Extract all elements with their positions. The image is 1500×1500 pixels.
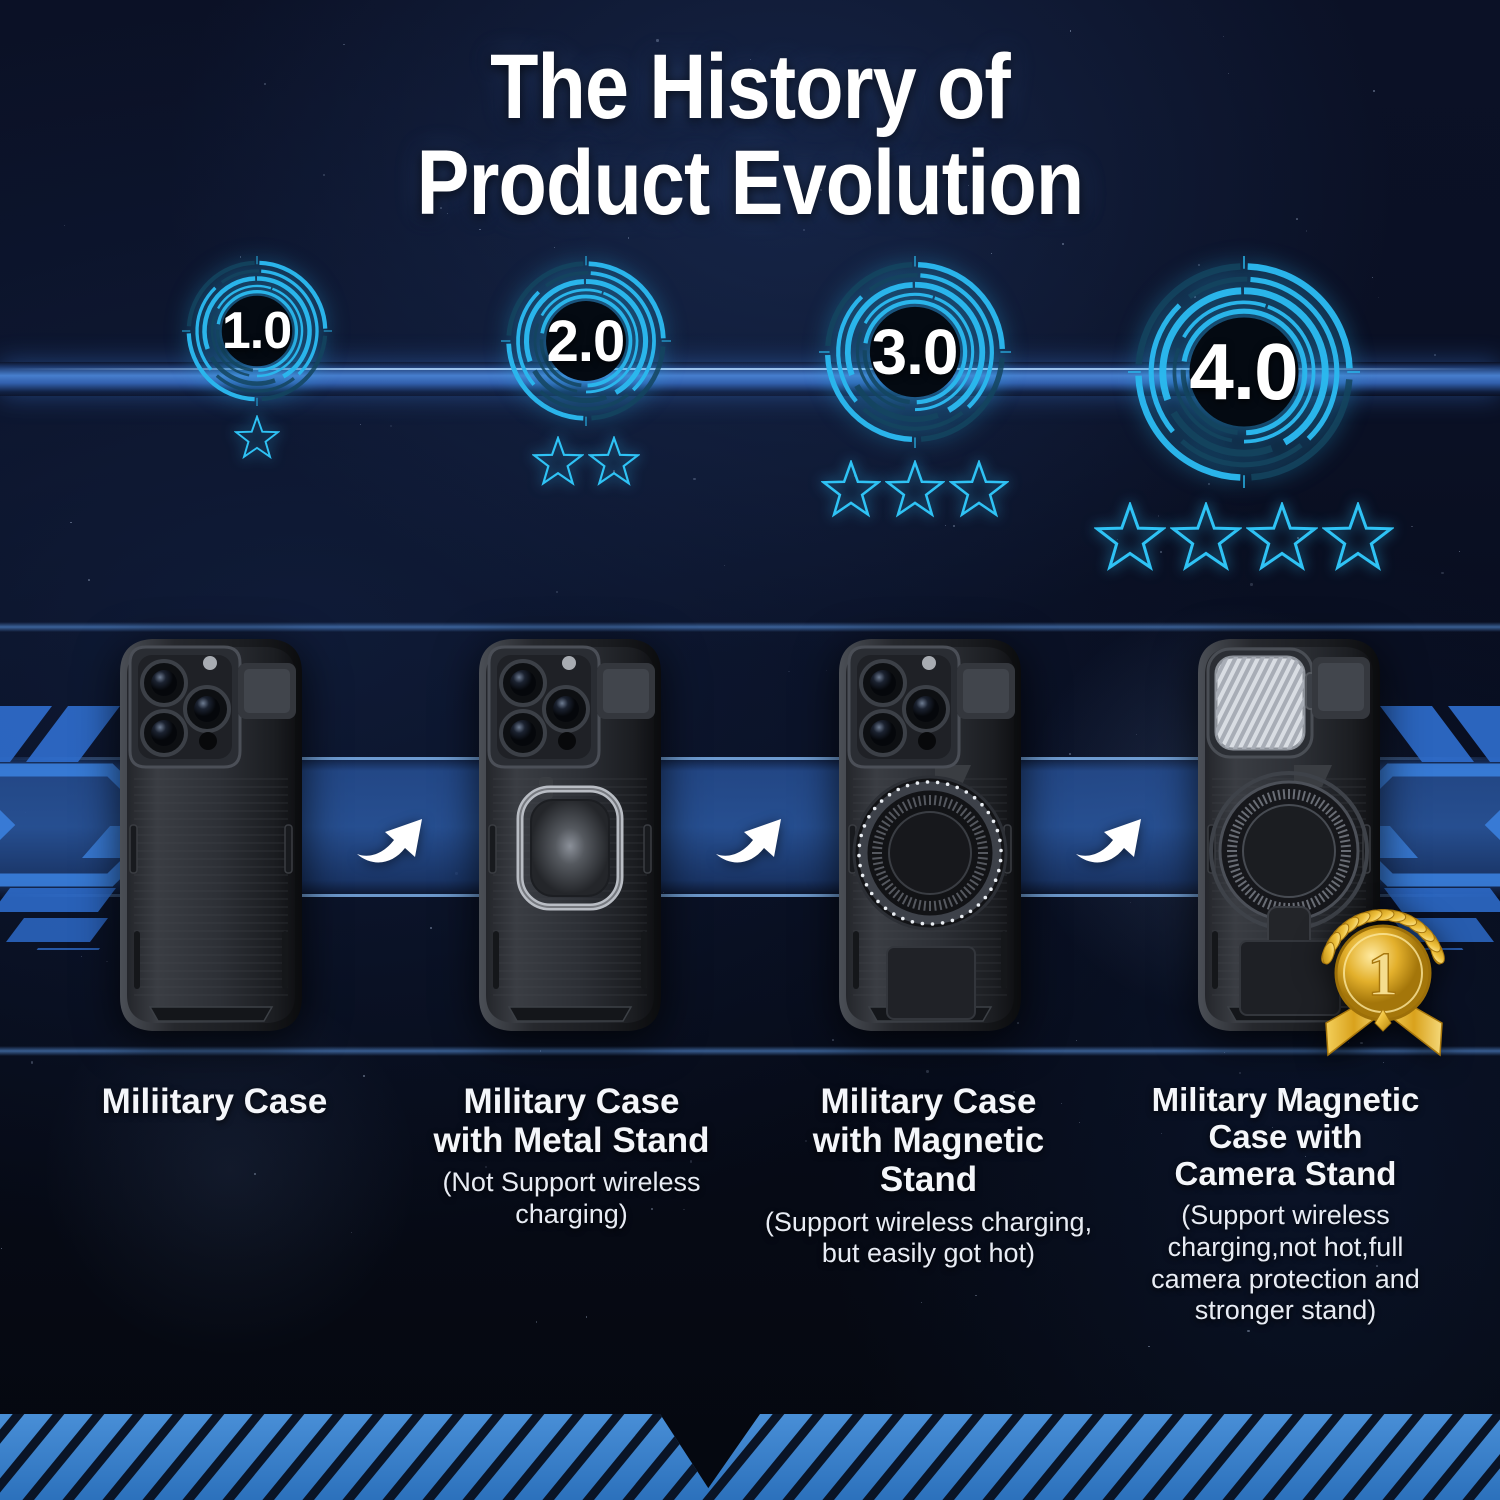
version-slot-4-0: 4.0	[1079, 256, 1408, 574]
evolution-arrow-icon	[1067, 799, 1153, 871]
product-caption-3: Military Casewith MagneticStand(Support …	[750, 1082, 1107, 1270]
product-image-3[interactable]	[793, 629, 1067, 1041]
product-name: Military MagneticCase withCamera Stand	[1115, 1082, 1456, 1193]
product-note: (Support wirelesscharging,not hot,fullca…	[1115, 1200, 1456, 1327]
evolution-arrow-icon	[707, 799, 793, 871]
product-caption-row: Miliitary CaseMilitary Casewith Metal St…	[0, 1082, 1500, 1327]
version-slot-1-0: 1.0	[92, 256, 421, 461]
phone-case-icon	[112, 629, 310, 1041]
product-caption-1: Miliitary Case	[36, 1082, 393, 1121]
version-star-rating	[821, 460, 1009, 520]
star-icon	[532, 436, 584, 488]
version-star-rating	[1094, 502, 1394, 574]
version-slot-2-0: 2.0	[421, 256, 750, 488]
star-icon	[821, 460, 881, 520]
phone-case-icon	[471, 629, 669, 1041]
version-number: 3.0	[819, 256, 1011, 448]
version-number: 2.0	[501, 256, 671, 426]
star-icon	[1322, 502, 1394, 574]
product-image-4[interactable]: 1	[1153, 629, 1427, 1041]
star-icon	[1246, 502, 1318, 574]
star-icon	[588, 436, 640, 488]
star-icon	[885, 460, 945, 520]
product-image-1[interactable]	[74, 629, 348, 1041]
version-ring-icon: 3.0	[819, 256, 1011, 448]
page-title: The History of Product Evolution	[0, 40, 1500, 231]
product-name: Military Casewith Metal Stand	[401, 1082, 742, 1160]
product-image-row: 1	[0, 620, 1500, 1050]
phone-case-icon	[831, 629, 1029, 1041]
bottom-stripe-band	[0, 1380, 1500, 1500]
version-number: 1.0	[182, 256, 332, 406]
star-icon	[1094, 502, 1166, 574]
version-badge-row: 1.0 2.0 3.0 4.0	[0, 256, 1500, 576]
award-medal-icon: 1	[1308, 895, 1460, 1067]
version-slot-3-0: 3.0	[750, 256, 1079, 520]
product-name: Military Casewith MagneticStand	[758, 1082, 1099, 1200]
product-caption-4: Military MagneticCase withCamera Stand(S…	[1107, 1082, 1464, 1327]
product-note: (Not Support wirelesscharging)	[401, 1167, 742, 1231]
title-line-1: The History of	[105, 40, 1395, 136]
product-name: Miliitary Case	[44, 1082, 385, 1121]
version-ring-icon: 4.0	[1128, 256, 1360, 488]
svg-text:1: 1	[1368, 941, 1399, 1009]
infographic-canvas: The History of Product Evolution 1.0 2.0…	[0, 0, 1500, 1500]
version-star-rating	[234, 415, 280, 461]
product-note: (Support wireless charging,but easily go…	[758, 1207, 1099, 1271]
version-ring-icon: 1.0	[182, 256, 332, 406]
evolution-arrow-icon	[348, 799, 434, 871]
product-caption-2: Military Casewith Metal Stand(Not Suppor…	[393, 1082, 750, 1231]
star-icon	[234, 415, 280, 461]
version-star-rating	[532, 436, 640, 488]
title-line-2: Product Evolution	[105, 136, 1395, 232]
version-number: 4.0	[1128, 256, 1360, 488]
version-ring-icon: 2.0	[501, 256, 671, 426]
star-icon	[949, 460, 1009, 520]
star-icon	[1170, 502, 1242, 574]
product-image-2[interactable]	[434, 629, 708, 1041]
